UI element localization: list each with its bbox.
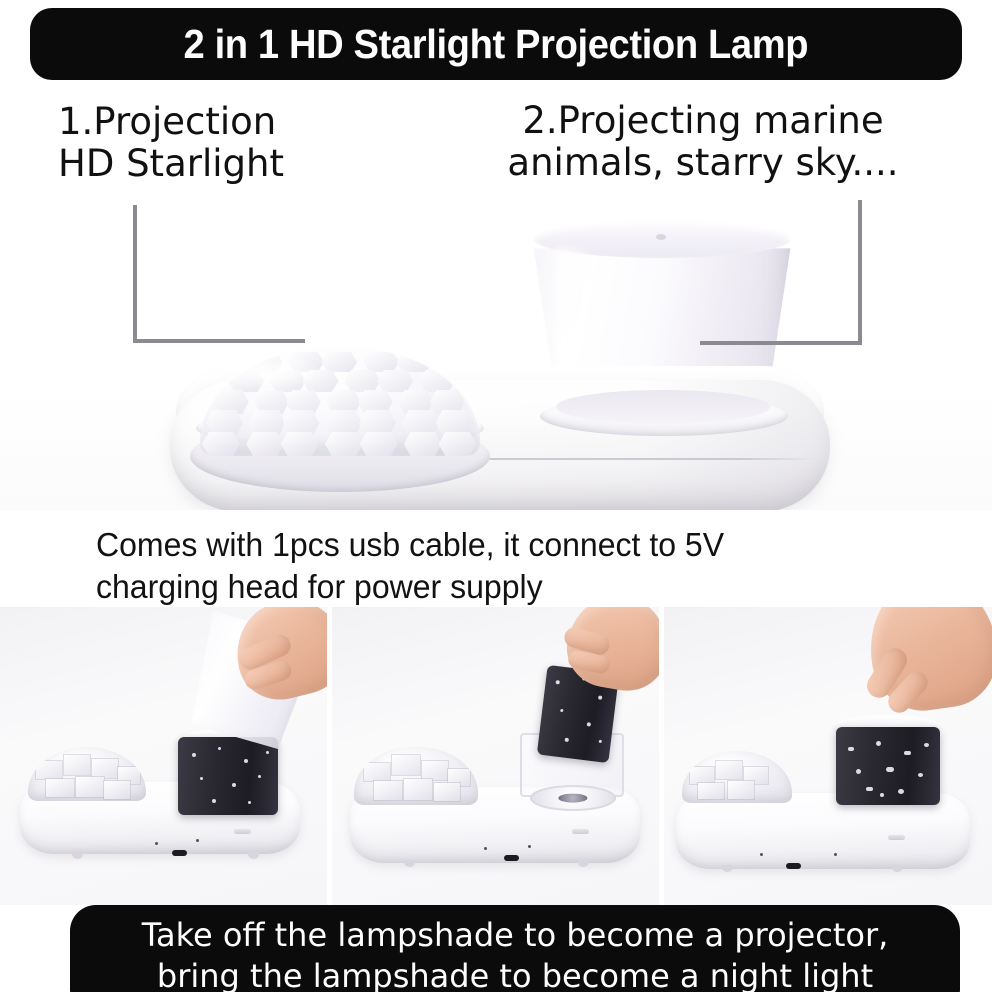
mini-usb-c-port bbox=[786, 863, 801, 869]
step-panel-1 bbox=[0, 607, 327, 905]
page-title: 2 in 1 HD Starlight Projection Lamp bbox=[184, 21, 809, 68]
mini-usb-c-port bbox=[172, 850, 187, 856]
lampshade-bottom-rim bbox=[556, 390, 770, 424]
dome-facet bbox=[202, 432, 240, 456]
step-panels bbox=[0, 607, 992, 905]
dome-facet bbox=[325, 432, 363, 456]
callout-label-2: 2.Projecting marine animals, starry sky.… bbox=[463, 100, 943, 184]
mini-film-cylinder bbox=[178, 737, 278, 815]
mini-lens-plate bbox=[530, 785, 616, 811]
callout-label-1: 1.Projection HD Starlight bbox=[58, 101, 284, 185]
mini-vent bbox=[888, 835, 905, 840]
leader-line-1-vertical bbox=[133, 205, 137, 343]
mini-indicator-dot bbox=[484, 847, 487, 850]
dome-facet bbox=[439, 432, 477, 456]
dome-facet bbox=[396, 352, 432, 372]
lampshade-vent-hole bbox=[656, 234, 666, 240]
mini-foot bbox=[72, 852, 83, 859]
mini-usb-c-port bbox=[504, 855, 519, 861]
title-banner: 2 in 1 HD Starlight Projection Lamp bbox=[30, 8, 962, 80]
dome-facet bbox=[281, 432, 319, 456]
dome-facet bbox=[246, 432, 284, 456]
mini-crystal-dome bbox=[682, 751, 792, 803]
mini-foot bbox=[722, 865, 733, 872]
marine-film-cylinder bbox=[836, 727, 940, 805]
mini-indicator-dot bbox=[834, 853, 837, 856]
dome-facet bbox=[321, 352, 357, 372]
mini-indicator-dot bbox=[528, 845, 531, 848]
mini-crystal-dome bbox=[28, 747, 146, 801]
dome-highlight bbox=[226, 356, 322, 390]
mini-foot bbox=[404, 860, 415, 867]
mini-foot bbox=[892, 865, 903, 872]
dome-facet bbox=[377, 370, 413, 392]
step-panel-2 bbox=[332, 607, 659, 905]
mini-foot bbox=[248, 852, 259, 859]
mini-indicator-dot bbox=[196, 839, 199, 842]
mini-vent bbox=[234, 829, 251, 834]
mini-indicator-dot bbox=[760, 853, 763, 856]
leader-line-1-horizontal bbox=[133, 339, 305, 343]
dome-facet bbox=[363, 352, 399, 372]
product-infographic: 2 in 1 HD Starlight Projection Lamp 1.Pr… bbox=[0, 0, 992, 992]
leader-line-2-horizontal bbox=[700, 341, 862, 345]
bottom-banner-text: Take off the lampshade to become a proje… bbox=[142, 915, 889, 992]
mini-vent bbox=[572, 829, 589, 834]
mini-foot bbox=[578, 860, 589, 867]
dome-facet bbox=[360, 432, 398, 456]
dome-facet bbox=[344, 370, 380, 392]
hero-caption: Comes with 1pcs usb cable, it connect to… bbox=[96, 524, 882, 607]
mini-indicator-dot bbox=[155, 842, 158, 845]
dome-facet bbox=[419, 370, 455, 392]
mini-crystal-dome bbox=[354, 747, 478, 805]
step-panel-3 bbox=[664, 607, 992, 905]
dome-facet bbox=[404, 432, 442, 456]
bottom-banner: Take off the lampshade to become a proje… bbox=[70, 905, 960, 992]
leader-line-2-vertical bbox=[858, 200, 862, 345]
